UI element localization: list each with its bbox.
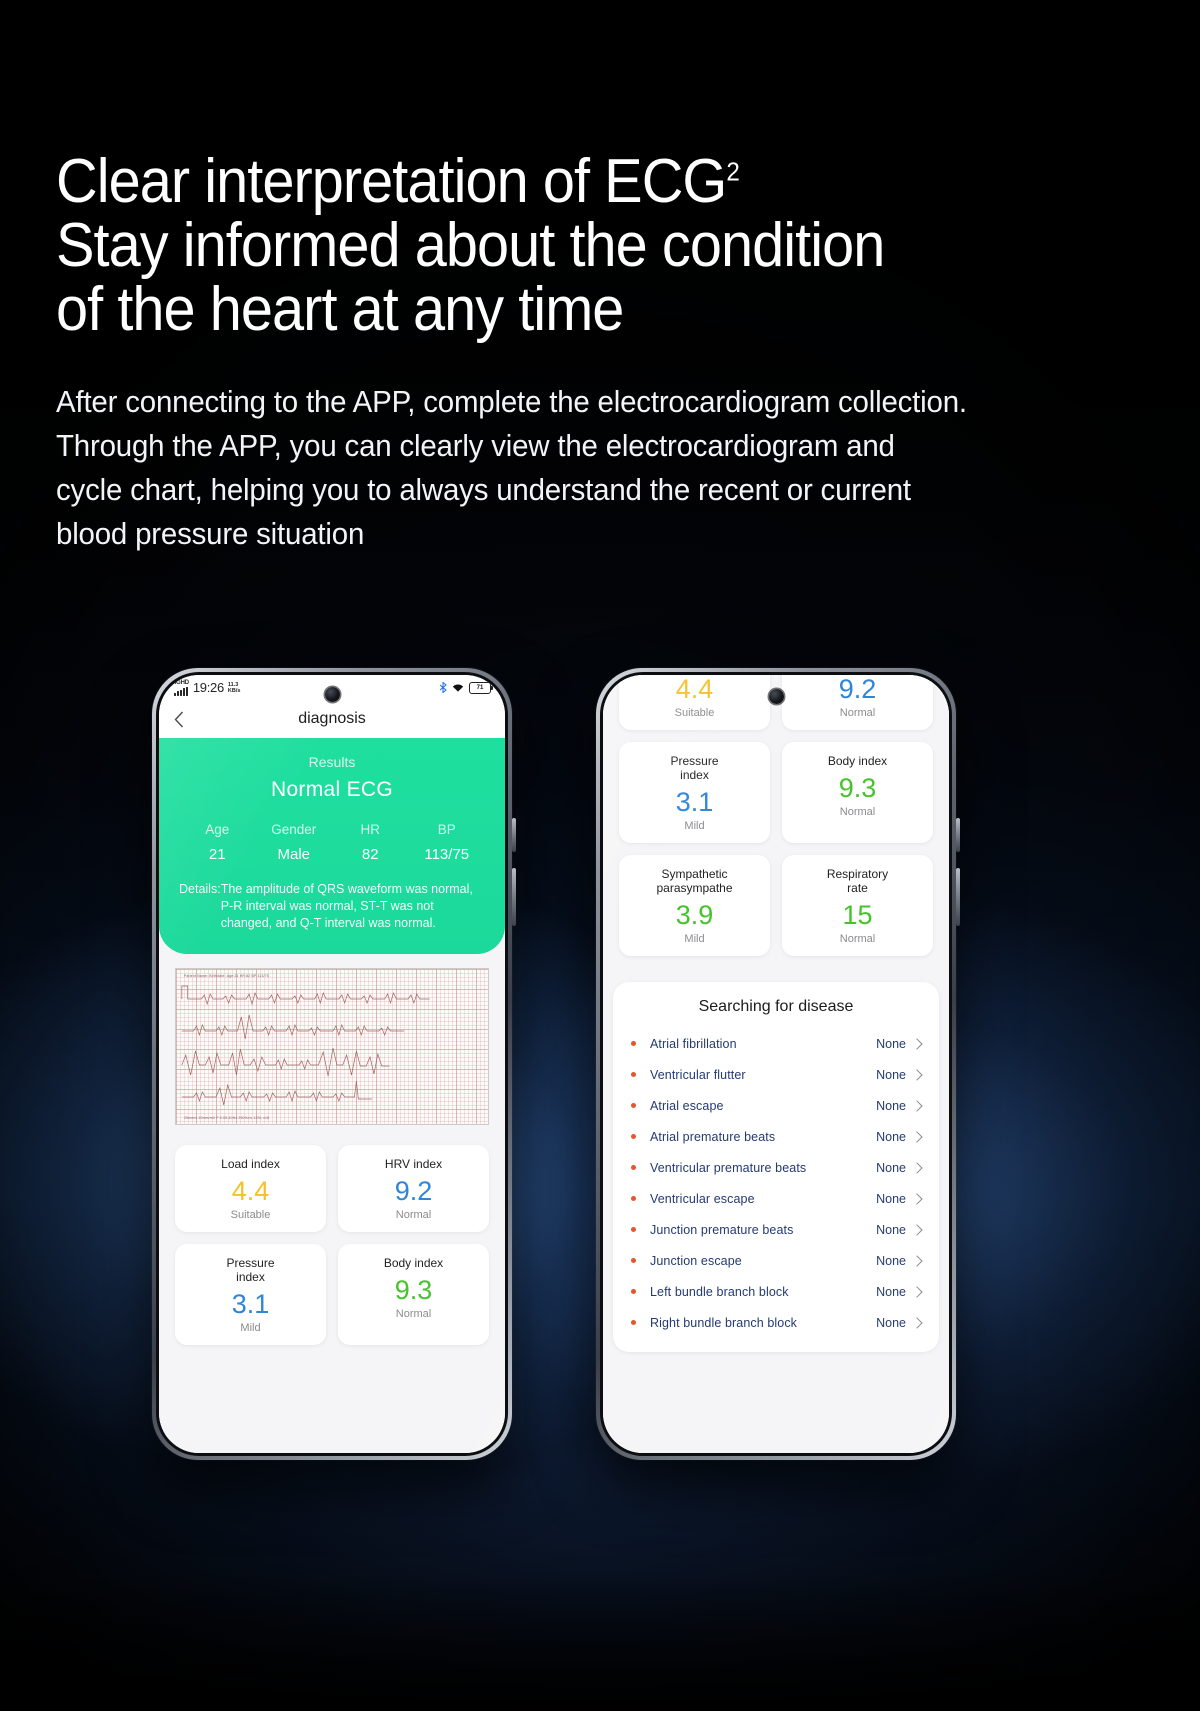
network-type-label: 4GHD: [173, 680, 189, 686]
chevron-right-icon: [911, 1317, 922, 1328]
ecg-chart-section: Patient Name: Birthdate: Age:21 HR:82 BP…: [159, 954, 505, 1133]
ecg-waveform: [176, 969, 488, 1124]
disease-name: Ventricular escape: [650, 1192, 876, 1206]
disease-row-junction-premature-beats[interactable]: Junction premature beats None: [627, 1214, 925, 1245]
card-pressure-index[interactable]: Pressure index 3.1 Mild: [175, 1244, 326, 1345]
results-label: Results: [179, 754, 485, 770]
disease-result: None: [876, 1192, 906, 1206]
disease-panel: Searching for disease Atrial fibrillatio…: [613, 982, 939, 1352]
bullet-icon: [631, 1196, 636, 1201]
results-stats-grid: Age 21 Gender Male HR 82: [179, 822, 485, 863]
disease-row-atrial-escape[interactable]: Atrial escape None: [627, 1090, 925, 1121]
card-title: Pressure index: [627, 754, 762, 782]
bluetooth-icon: [439, 682, 447, 693]
disease-name: Atrial fibrillation: [650, 1037, 876, 1051]
stat-age-value: 21: [179, 846, 256, 863]
card-value: 3.9: [627, 899, 762, 931]
disease-name: Atrial escape: [650, 1099, 876, 1113]
ecg-chart[interactable]: Patient Name: Birthdate: Age:21 HR:82 BP…: [175, 968, 489, 1125]
bullet-icon: [631, 1072, 636, 1077]
card-value: 4.4: [627, 675, 762, 705]
disease-row-right-bundle-branch-block[interactable]: Right bundle branch block None: [627, 1307, 925, 1338]
card-load-index[interactable]: Load index 4.4 Suitable: [175, 1145, 326, 1232]
card-status: Normal: [790, 806, 925, 818]
card-hrv-index[interactable]: HRV index 9.2 Normal: [782, 675, 933, 730]
card-status: Suitable: [183, 1209, 318, 1221]
results-details: Details: The amplitude of QRS waveform w…: [179, 881, 485, 932]
disease-result: None: [876, 1068, 906, 1082]
bottom-fade: [0, 1571, 1200, 1711]
index-cards-grid-right: Load index 4.4 Suitable HRV index 9.2 No…: [603, 675, 949, 972]
stat-hr-key: HR: [332, 822, 409, 837]
chevron-right-icon: [911, 1193, 922, 1204]
disease-name: Atrial premature beats: [650, 1130, 876, 1144]
stat-hr: HR 82: [332, 822, 409, 863]
card-title: Load index: [183, 1157, 318, 1171]
card-respiratory-rate[interactable]: Respiratory rate 15 Normal: [782, 855, 933, 956]
results-title: Normal ECG: [179, 778, 485, 802]
phone-right-screen: Load index 4.4 Suitable HRV index 9.2 No…: [603, 675, 949, 1453]
card-title: Pressure index: [183, 1256, 318, 1284]
disease-row-ventricular-flutter[interactable]: Ventricular flutter None: [627, 1059, 925, 1090]
disease-result: None: [876, 1037, 906, 1051]
card-value: 9.2: [346, 1175, 481, 1207]
phone-side-button[interactable]: [512, 818, 516, 852]
battery-icon: 71: [469, 682, 491, 694]
data-rate-unit: KB/s: [228, 688, 241, 694]
phone-left: 4GHD 19:26 11.3 KB/s 71: [152, 668, 512, 1460]
phone-volume-button[interactable]: [956, 868, 960, 926]
stat-bp-value: 113/75: [409, 846, 486, 863]
front-camera-icon: [769, 689, 784, 704]
chevron-right-icon: [911, 1100, 922, 1111]
disease-row-atrial-premature-beats[interactable]: Atrial premature beats None: [627, 1121, 925, 1152]
status-time: 19:26: [193, 680, 224, 695]
card-status: Mild: [183, 1322, 318, 1334]
chevron-right-icon: [911, 1069, 922, 1080]
chevron-right-icon: [911, 1255, 922, 1266]
card-title: HRV index: [346, 1157, 481, 1171]
card-value: 9.3: [790, 772, 925, 804]
front-camera-icon: [325, 687, 340, 702]
battery-level: 71: [477, 685, 484, 691]
bullet-icon: [631, 1289, 636, 1294]
bullet-icon: [631, 1258, 636, 1263]
disease-result: None: [876, 1285, 906, 1299]
bullet-icon: [631, 1103, 636, 1108]
details-text: The amplitude of QRS waveform was normal…: [221, 881, 485, 932]
bullet-icon: [631, 1227, 636, 1232]
chevron-right-icon: [911, 1162, 922, 1173]
disease-row-ventricular-escape[interactable]: Ventricular escape None: [627, 1183, 925, 1214]
stat-gender-value: Male: [256, 846, 333, 863]
chevron-right-icon: [911, 1131, 922, 1142]
phone-right-scroll-area[interactable]: Load index 4.4 Suitable HRV index 9.2 No…: [603, 675, 949, 1453]
disease-result: None: [876, 1223, 906, 1237]
phone-side-button[interactable]: [956, 818, 960, 852]
wifi-icon: [452, 683, 464, 693]
card-value: 15: [790, 899, 925, 931]
disease-result: None: [876, 1130, 906, 1144]
card-status: Mild: [627, 933, 762, 945]
disease-result: None: [876, 1316, 906, 1330]
card-body-index[interactable]: Body index 9.3 Normal: [338, 1244, 489, 1345]
disease-name: Ventricular premature beats: [650, 1161, 876, 1175]
disease-name: Left bundle branch block: [650, 1285, 876, 1299]
card-body-index[interactable]: Body index 9.3 Normal: [782, 742, 933, 843]
index-cards-grid-left: Load index 4.4 Suitable HRV index 9.2 No…: [159, 1133, 505, 1361]
card-value: 3.1: [183, 1288, 318, 1320]
disease-panel-title: Searching for disease: [627, 998, 925, 1016]
phone-left-screen: 4GHD 19:26 11.3 KB/s 71: [159, 675, 505, 1453]
card-load-index[interactable]: Load index 4.4 Suitable: [619, 675, 770, 730]
stat-gender-key: Gender: [256, 822, 333, 837]
disease-result: None: [876, 1161, 906, 1175]
disease-name: Ventricular flutter: [650, 1068, 876, 1082]
page-header-title: diagnosis: [159, 710, 505, 728]
chevron-right-icon: [911, 1286, 922, 1297]
phone-left-scroll-area[interactable]: Results Normal ECG Age 21 Gender Male: [159, 738, 505, 1453]
stat-bp: BP 113/75: [409, 822, 486, 863]
chevron-right-icon: [911, 1038, 922, 1049]
card-title: Body index: [346, 1256, 481, 1270]
disease-name: Right bundle branch block: [650, 1316, 876, 1330]
card-value: 9.2: [790, 675, 925, 705]
bullet-icon: [631, 1165, 636, 1170]
disease-result: None: [876, 1099, 906, 1113]
disease-row-atrial-fibrillation[interactable]: Atrial fibrillation None: [627, 1028, 925, 1059]
phone-right: Load index 4.4 Suitable HRV index 9.2 No…: [596, 668, 956, 1460]
stat-age: Age 21: [179, 822, 256, 863]
card-status: Normal: [346, 1308, 481, 1320]
disease-row-ventricular-premature-beats[interactable]: Ventricular premature beats None: [627, 1152, 925, 1183]
nav-bar: diagnosis: [159, 700, 505, 738]
card-value: 3.1: [627, 786, 762, 818]
card-status: Mild: [627, 820, 762, 832]
stat-age-key: Age: [179, 822, 256, 837]
results-card: Results Normal ECG Age 21 Gender Male: [159, 738, 505, 954]
card-status: Normal: [790, 933, 925, 945]
disease-name: Junction premature beats: [650, 1223, 876, 1237]
bullet-icon: [631, 1320, 636, 1325]
card-value: 4.4: [183, 1175, 318, 1207]
card-status: Suitable: [627, 707, 762, 719]
card-hrv-index[interactable]: HRV index 9.2 Normal: [338, 1145, 489, 1232]
disease-result: None: [876, 1254, 906, 1268]
card-pressure-index[interactable]: Pressure index 3.1 Mild: [619, 742, 770, 843]
stat-hr-value: 82: [332, 846, 409, 863]
bullet-icon: [631, 1041, 636, 1046]
card-title: Body index: [790, 754, 925, 768]
card-status: Normal: [346, 1209, 481, 1221]
chevron-right-icon: [911, 1224, 922, 1235]
bullet-icon: [631, 1134, 636, 1139]
signal-icon: [174, 687, 188, 696]
card-value: 9.3: [346, 1274, 481, 1306]
disease-row-left-bundle-branch-block[interactable]: Left bundle branch block None: [627, 1276, 925, 1307]
details-key: Details:: [179, 881, 221, 932]
card-title: Sympathetic parasympathe: [627, 867, 762, 895]
card-status: Normal: [790, 707, 925, 719]
card-title: Respiratory rate: [790, 867, 925, 895]
stat-bp-key: BP: [409, 822, 486, 837]
phone-mockups: 4GHD 19:26 11.3 KB/s 71: [0, 0, 1200, 1711]
card-sympathetic-parasympathetic[interactable]: Sympathetic parasympathe 3.9 Mild: [619, 855, 770, 956]
disease-name: Junction escape: [650, 1254, 876, 1268]
stat-gender: Gender Male: [256, 822, 333, 863]
phone-volume-button[interactable]: [512, 868, 516, 926]
disease-row-junction-escape[interactable]: Junction escape None: [627, 1245, 925, 1276]
